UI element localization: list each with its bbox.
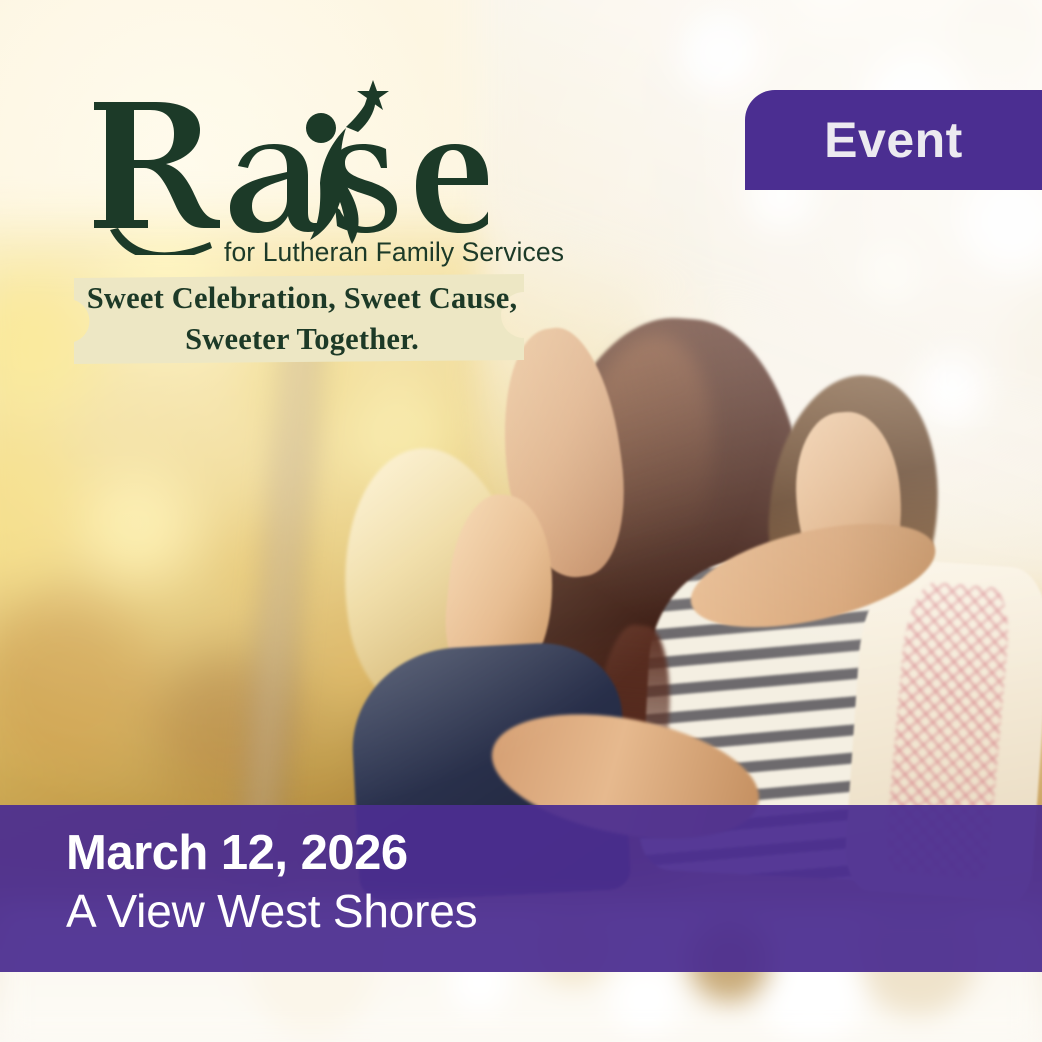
tagline-ribbon: Sweet Celebration, Sweet Cause, Sweeter … bbox=[66, 274, 532, 364]
event-date: March 12, 2026 bbox=[66, 827, 1042, 881]
event-badge: Event bbox=[745, 90, 1042, 190]
ribbon-line-2: Sweeter Together. bbox=[185, 319, 419, 360]
ribbon-text: Sweet Celebration, Sweet Cause, Sweeter … bbox=[66, 274, 532, 364]
footer-content: March 12, 2026 A View West Shores bbox=[0, 805, 1042, 972]
raise-wordmark bbox=[88, 80, 528, 240]
event-badge-label: Event bbox=[824, 115, 963, 165]
raise-logo: for Lutheran Family Services bbox=[88, 80, 528, 240]
event-promo-poster: Event bbox=[0, 0, 1042, 1042]
raise-wordmark-svg bbox=[88, 80, 488, 255]
ribbon-line-1: Sweet Celebration, Sweet Cause, bbox=[87, 278, 518, 319]
logo-tagline: for Lutheran Family Services bbox=[224, 237, 564, 268]
event-venue: A View West Shores bbox=[66, 885, 1042, 938]
